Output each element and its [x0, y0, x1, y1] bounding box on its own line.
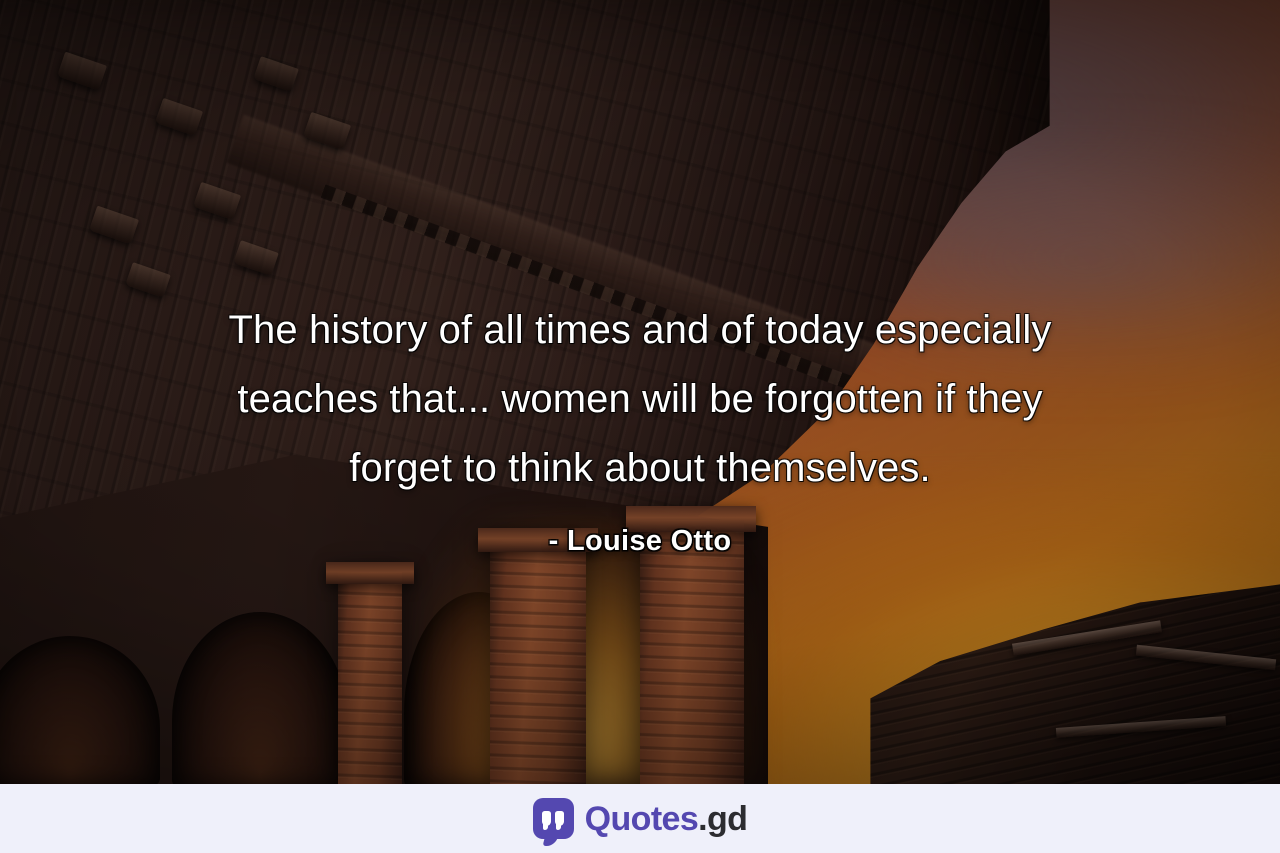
stone-pillar: [640, 520, 744, 784]
pillar-capital: [326, 562, 414, 584]
quote-line-1: The history of all times and of today es…: [112, 296, 1168, 365]
brand-name-primary: Quotes: [585, 800, 699, 838]
quote-line-3: forget to think about themselves.: [112, 434, 1168, 503]
brand-name-secondary: .gd: [698, 800, 747, 838]
stone-pillar: [338, 572, 402, 784]
quote-glyph-left: [542, 811, 551, 826]
site-logo-text: Quotes.gd: [585, 802, 748, 836]
stone-pillar: [490, 540, 586, 784]
quote-overlay: The history of all times and of today es…: [0, 296, 1280, 558]
quote-glyph-right: [555, 811, 564, 826]
quote-bubble-icon: [533, 798, 574, 839]
quote-image-page: The history of all times and of today es…: [0, 0, 1280, 853]
site-footer: Quotes.gd: [0, 784, 1280, 853]
quote-line-2: teaches that... women will be forgotten …: [112, 365, 1168, 434]
quote-author: - Louise Otto: [112, 525, 1168, 558]
site-logo[interactable]: Quotes.gd: [533, 798, 748, 839]
background-photo-colosseum: The history of all times and of today es…: [0, 0, 1280, 784]
